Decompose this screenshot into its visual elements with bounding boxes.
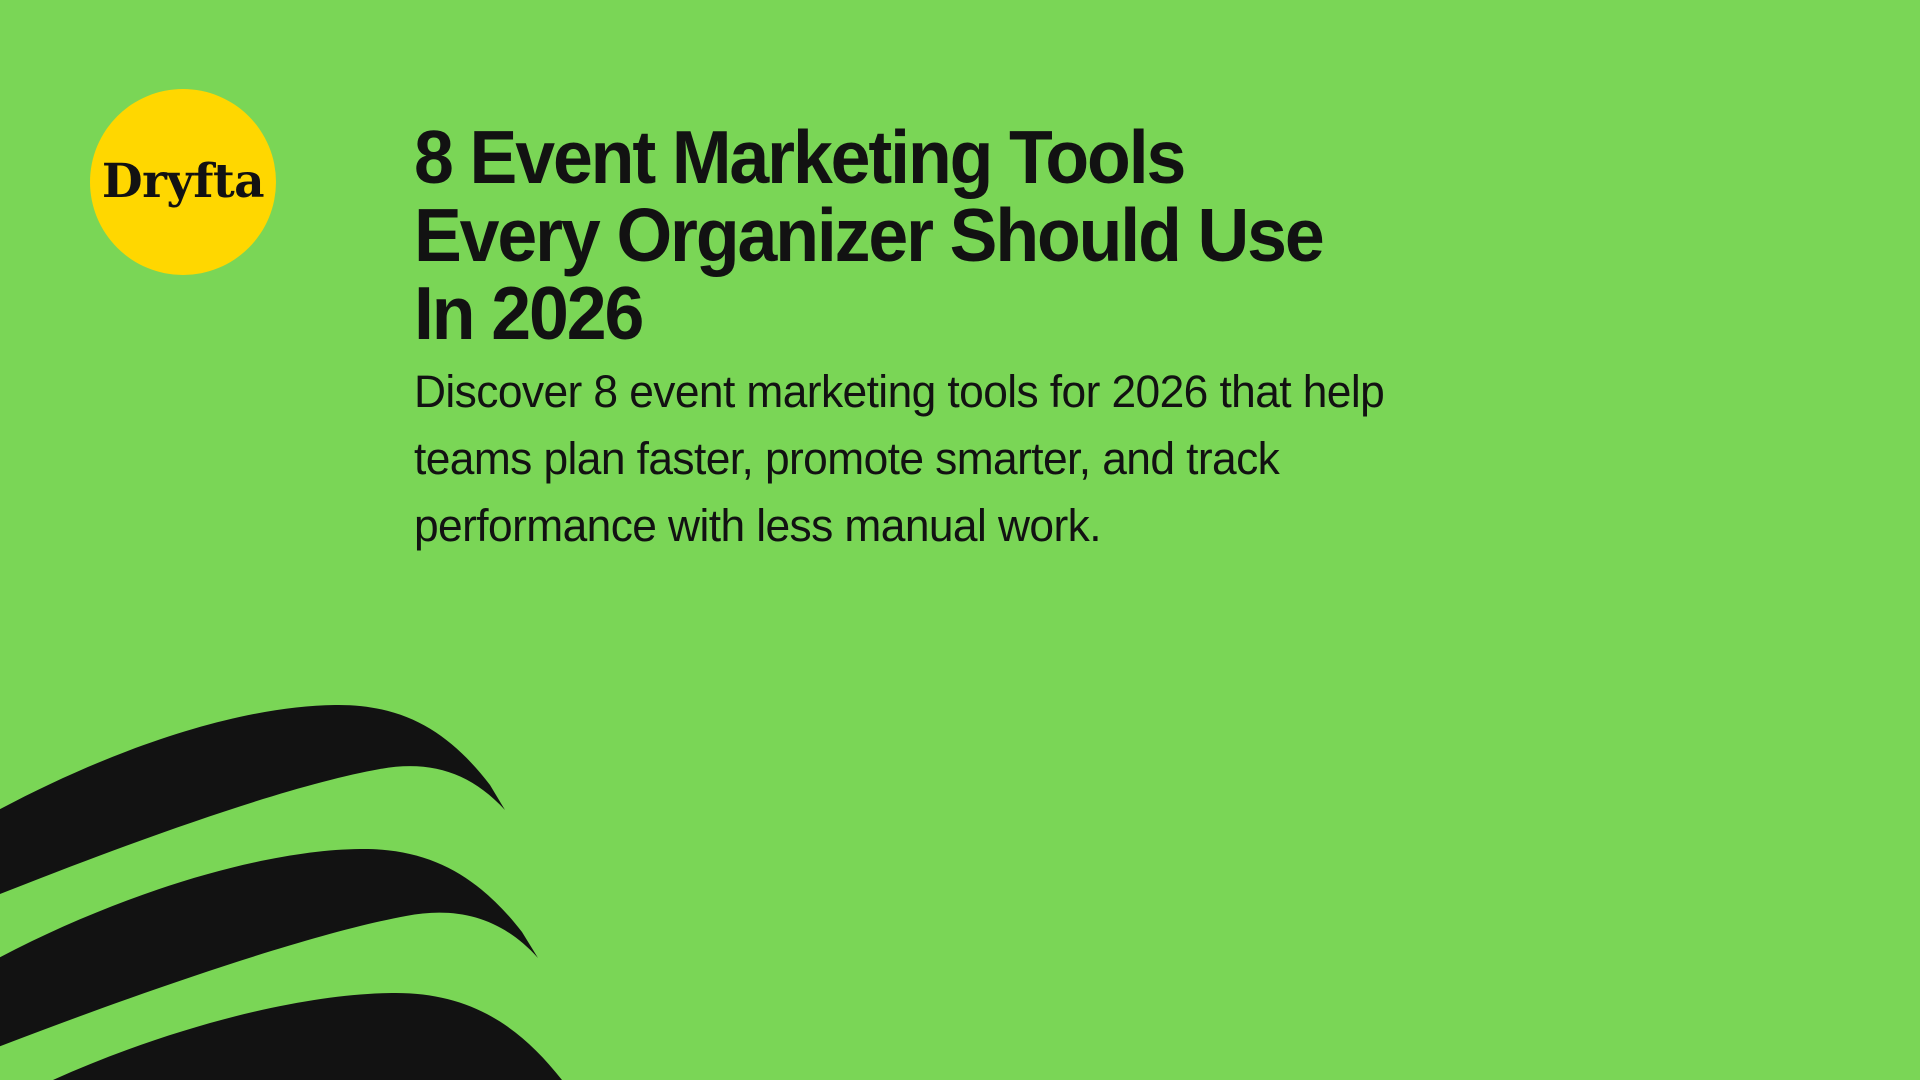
brand-wordmark: Dryfta <box>102 158 264 205</box>
brand-logo[interactable]: Dryfta <box>90 89 276 275</box>
wave-bands-icon <box>0 520 760 1080</box>
text-content: 8 Event Marketing Tools Every Organizer … <box>414 118 1424 352</box>
wave-decoration <box>0 520 760 1080</box>
page-title: 8 Event Marketing Tools Every Organizer … <box>414 118 1379 352</box>
wave-band-1 <box>0 705 505 902</box>
wave-band-3 <box>0 993 580 1080</box>
blog-banner: Dryfta 8 Event Marketing Tools Every Org… <box>0 0 1920 1080</box>
wave-band-2 <box>0 849 538 1054</box>
page-subtitle: Discover 8 event marketing tools for 202… <box>414 358 1409 559</box>
